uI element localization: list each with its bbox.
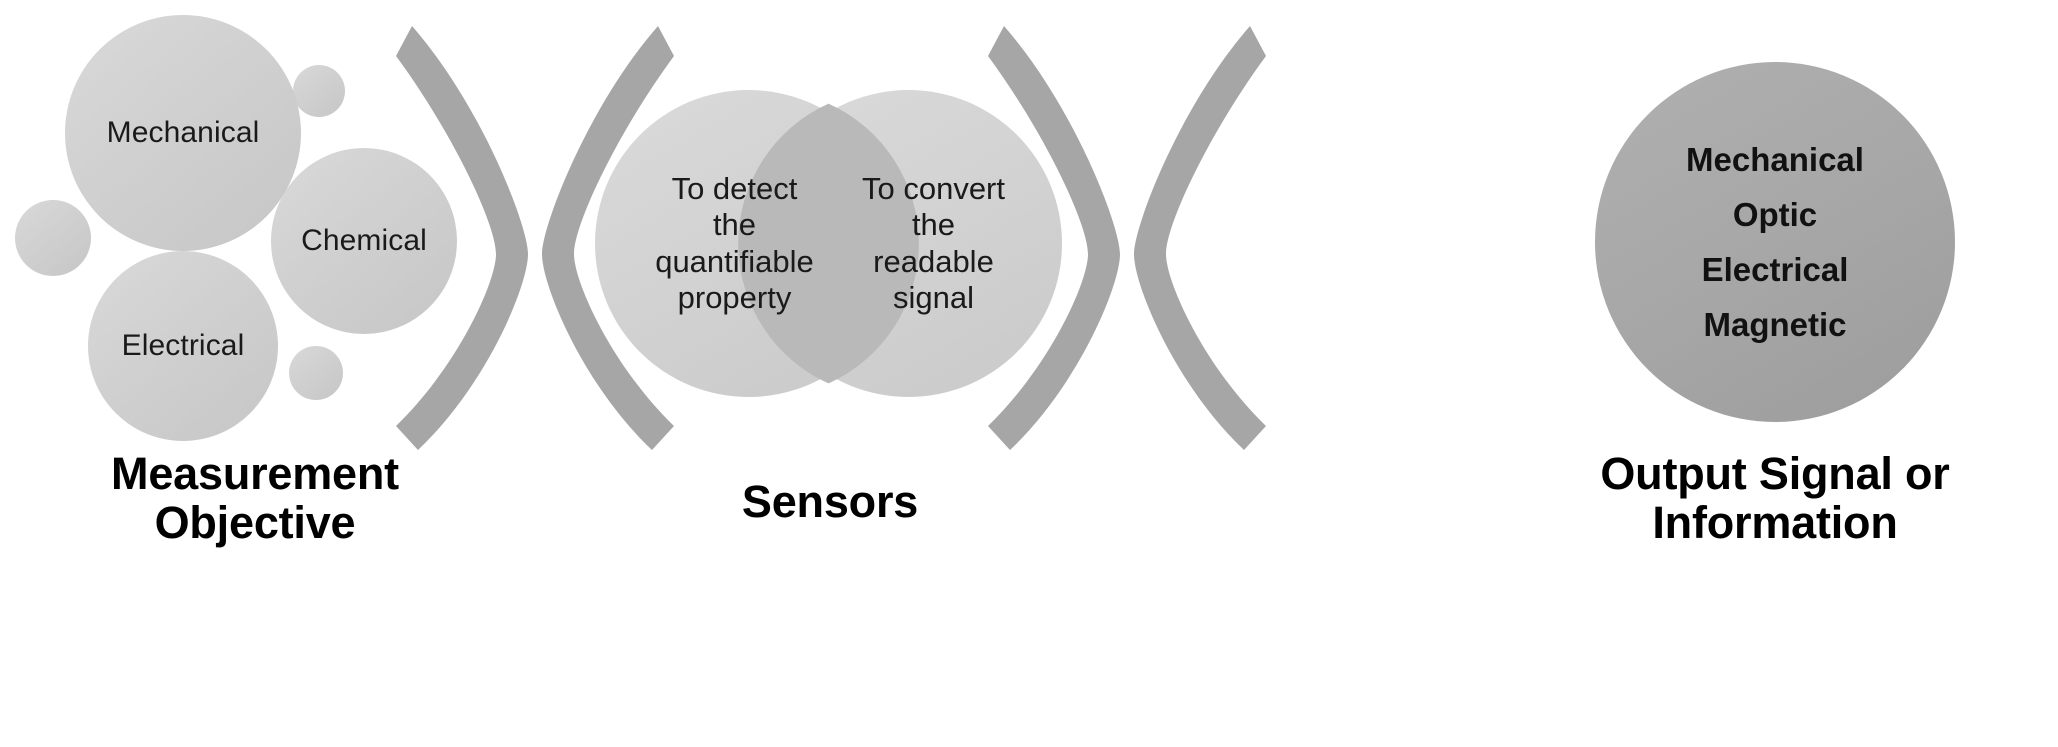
venn-line: To detect	[655, 171, 814, 207]
caption-line: Sensors	[700, 478, 960, 527]
bracket-arc-path	[988, 26, 1120, 450]
bubble-decorative-1	[293, 65, 345, 117]
venn-line: quantifiable	[655, 244, 814, 280]
bubble-mechanical: Mechanical	[65, 15, 301, 251]
caption-line: Output Signal or	[1520, 450, 2030, 499]
output-item-electrical: Electrical	[1702, 253, 1849, 286]
venn-line: the	[655, 207, 814, 243]
diagram-canvas: Mechanical Chemical Electrical Measureme…	[0, 0, 2058, 747]
output-circle: Mechanical Optic Electrical Magnetic	[1595, 62, 1955, 422]
caption-output-signal: Output Signal or Information	[1520, 450, 2030, 547]
venn-label-convert: To convert the readable signal	[862, 171, 1005, 316]
caption-line: Objective	[40, 499, 470, 548]
bubble-decorative-2	[15, 200, 91, 276]
bracket-arc-path	[396, 26, 528, 450]
output-item-mechanical: Mechanical	[1686, 143, 1864, 176]
venn-line: the	[862, 207, 1005, 243]
venn-label-detect: To detect the quantifiable property	[655, 171, 814, 316]
venn-line: readable	[862, 244, 1005, 280]
venn-line: property	[655, 280, 814, 316]
caption-line: Information	[1520, 499, 2030, 548]
caption-sensors: Sensors	[700, 478, 960, 527]
venn-line: signal	[862, 280, 1005, 316]
bracket-right-open	[1116, 14, 1266, 464]
bubble-decorative-3	[289, 346, 343, 400]
bubble-electrical: Electrical	[88, 251, 278, 441]
output-item-optic: Optic	[1733, 198, 1817, 231]
caption-measurement-objective: Measurement Objective	[40, 450, 470, 547]
bubble-label-mechanical: Mechanical	[107, 116, 260, 151]
bubble-label-electrical: Electrical	[122, 329, 245, 364]
output-item-magnetic: Magnetic	[1703, 308, 1846, 341]
venn-line: To convert	[862, 171, 1005, 207]
stage-measurement-objective: Mechanical Chemical Electrical	[0, 0, 400, 440]
bracket-arc-path	[1134, 26, 1266, 450]
